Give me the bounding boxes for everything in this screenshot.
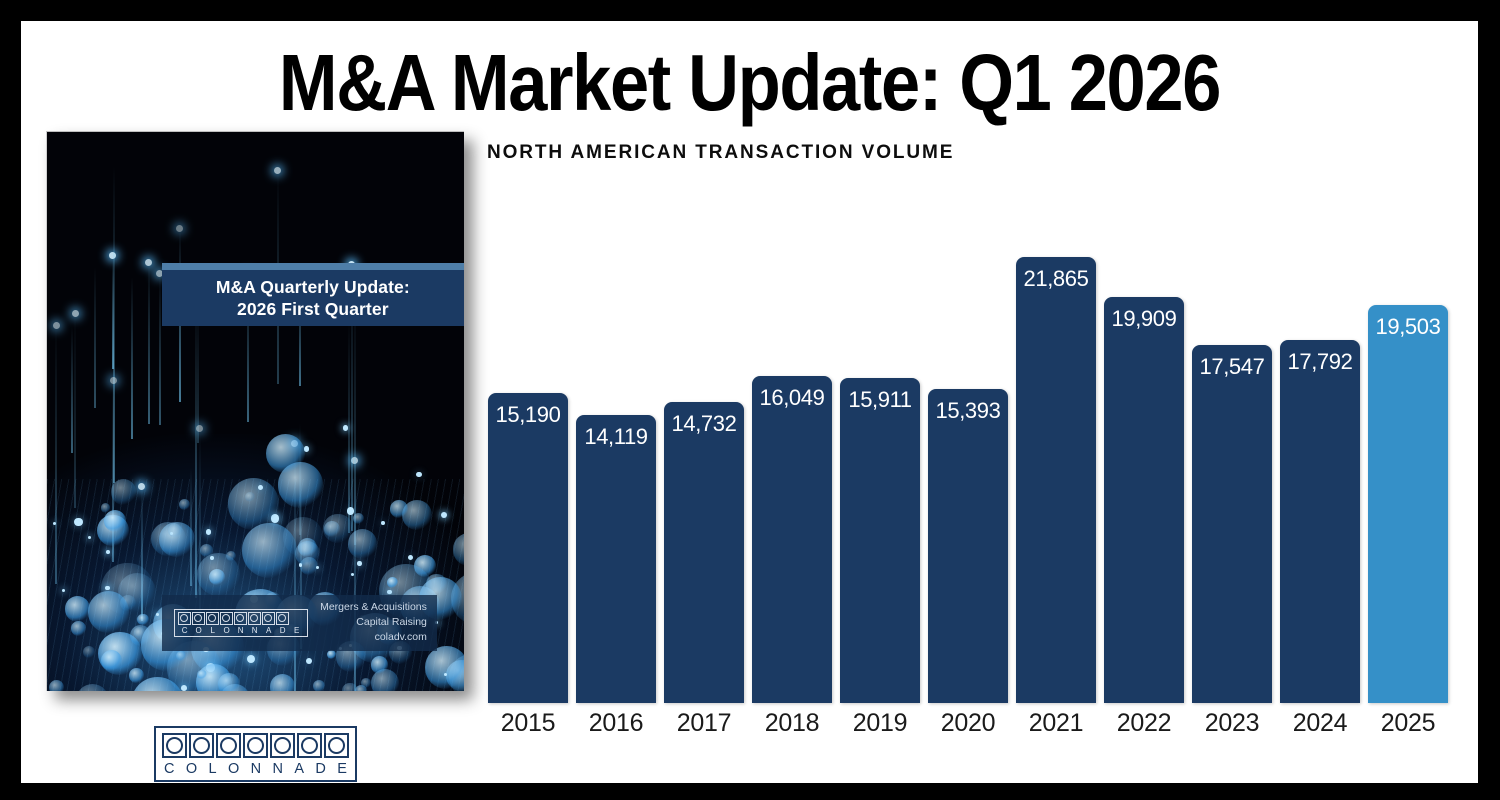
colonnade-wordmark: COLONNADE [162,761,349,777]
cover-tagline: Mergers & Acquisitions Capital Raising c… [320,600,427,645]
report-cover-image: M&A Quarterly Update: 2026 First Quarter [46,131,464,691]
x-axis-label: 2025 [1368,709,1448,738]
cover-logo-cells [178,612,304,625]
bar[interactable]: 15,393 [928,389,1008,703]
cover-footer: COLONNADE Mergers & Acquisitions Capital… [162,595,437,651]
colonnade-logo-box: COLONNADE [154,726,357,782]
colonnade-wordmark-letter: N [251,761,261,777]
colonnade-wordmark-letter: O [186,761,197,777]
colonnade-logo-cell [162,733,187,758]
colonnade-logo-cell [243,733,268,758]
cover-logo-cell [262,612,275,625]
cover-wordmark-letter: N [234,626,248,635]
cover-wordmark-letter: E [290,626,304,635]
cover-title-banner: M&A Quarterly Update: 2026 First Quarter [162,263,464,293]
colonnade-logo-cells [162,733,349,758]
bar[interactable]: 17,547 [1192,345,1272,703]
cover-title-text: M&A Quarterly Update: 2026 First Quarter [216,276,410,321]
cover-logo-cell [234,612,247,625]
cover-logo-cell [276,612,289,625]
bar[interactable]: 14,119 [576,415,656,703]
bar-value-label: 15,911 [848,387,911,413]
bar-column[interactable]: 17,547 [1192,345,1272,703]
colonnade-wordmark-letter: N [272,761,282,777]
report-cover[interactable]: M&A Quarterly Update: 2026 First Quarter [46,131,471,706]
bar[interactable]: 16,049 [752,376,832,703]
colonnade-wordmark-letter: O [228,761,239,777]
bar-column[interactable]: 15,911 [840,378,920,703]
page-title: M&A Market Update: Q1 2026 [108,43,1390,123]
bar-value-label: 21,865 [1024,266,1089,292]
cover-logo-cell [206,612,219,625]
cover-wordmark-letter: D [276,626,290,635]
bar[interactable]: 19,909 [1104,297,1184,703]
cover-wordmark-letter: O [192,626,206,635]
bar-value-label: 19,909 [1112,306,1177,332]
bar[interactable]: 15,190 [488,393,568,703]
colonnade-logo-cell [189,733,214,758]
cover-wordmark-letter: A [262,626,276,635]
bar-column[interactable]: 19,503 [1368,305,1448,703]
bar[interactable]: 14,732 [664,402,744,703]
bar-column[interactable]: 16,049 [752,376,832,703]
colonnade-logo[interactable]: COLONNADE [154,726,357,782]
colonnade-wordmark-letter: L [209,761,217,777]
bar-column[interactable]: 21,865 [1016,257,1096,703]
cover-tagline-line: Capital Raising [320,615,427,630]
bar-value-label: 15,190 [496,402,561,428]
x-axis-label: 2024 [1280,709,1360,738]
colonnade-logo-cell [216,733,241,758]
colonnade-wordmark-letter: C [164,761,174,777]
bar-value-label: 14,732 [672,411,737,437]
colonnade-wordmark-letter: E [337,761,347,777]
cover-wordmark-letter: N [248,626,262,635]
bar-value-label: 19,503 [1376,314,1441,340]
bar[interactable]: 21,865 [1016,257,1096,703]
colonnade-logo-cell [297,733,322,758]
cover-logo-cell [220,612,233,625]
cover-logo-cell [178,612,191,625]
x-axis-label: 2019 [840,709,920,738]
x-axis-label: 2023 [1192,709,1272,738]
bar-value-label: 17,792 [1288,349,1353,375]
poster-canvas: M&A Market Update: Q1 2026 NORTH AMERICA… [21,21,1478,783]
cover-wordmark-letter: O [220,626,234,635]
bar-value-label: 14,119 [584,424,647,450]
bar-value-label: 16,049 [760,385,825,411]
x-axis-label: 2021 [1016,709,1096,738]
bar[interactable]: 19,503 [1368,305,1448,703]
bar-column[interactable]: 15,393 [928,389,1008,703]
bar-column[interactable]: 15,190 [488,393,568,703]
colonnade-wordmark-letter: D [315,761,325,777]
colonnade-wordmark-letter: A [294,761,304,777]
cover-colonnade-logo: COLONNADE [174,609,308,637]
chart-subtitle: NORTH AMERICAN TRANSACTION VOLUME [487,142,1187,164]
x-axis-label: 2017 [664,709,744,738]
bar-column[interactable]: 17,792 [1280,340,1360,703]
bar-value-label: 15,393 [936,398,1001,424]
x-axis-label: 2020 [928,709,1008,738]
x-axis-label: 2016 [576,709,656,738]
chart-plot-area: 15,19014,11914,73216,04915,91115,39321,8… [488,191,1456,703]
bar[interactable]: 15,911 [840,378,920,703]
cover-logo-wordmark: COLONNADE [178,626,304,635]
bar-column[interactable]: 14,119 [576,415,656,703]
cover-banner-body: M&A Quarterly Update: 2026 First Quarter [162,270,464,326]
transaction-volume-chart: 15,19014,11914,73216,04915,91115,39321,8… [466,191,1456,756]
x-axis-label: 2018 [752,709,832,738]
x-axis-label: 2015 [488,709,568,738]
cover-floor-texture [47,479,464,691]
chart-x-axis: 2015201620172018201920202021202220232024… [488,709,1456,753]
cover-banner-strip [162,263,464,270]
bar-value-label: 17,547 [1200,354,1265,380]
cover-tagline-line: Mergers & Acquisitions [320,600,427,615]
x-axis-label: 2022 [1104,709,1184,738]
cover-wordmark-letter: C [178,626,192,635]
colonnade-logo-cell [324,733,349,758]
poster-frame: M&A Market Update: Q1 2026 NORTH AMERICA… [0,0,1500,800]
cover-logo-cell [192,612,205,625]
bar[interactable]: 17,792 [1280,340,1360,703]
colonnade-logo-cell [270,733,295,758]
cover-tagline-line: coladv.com [320,630,427,645]
cover-logo-cell [248,612,261,625]
bar-column[interactable]: 14,732 [664,402,744,703]
bar-column[interactable]: 19,909 [1104,297,1184,703]
cover-wordmark-letter: L [206,626,220,635]
